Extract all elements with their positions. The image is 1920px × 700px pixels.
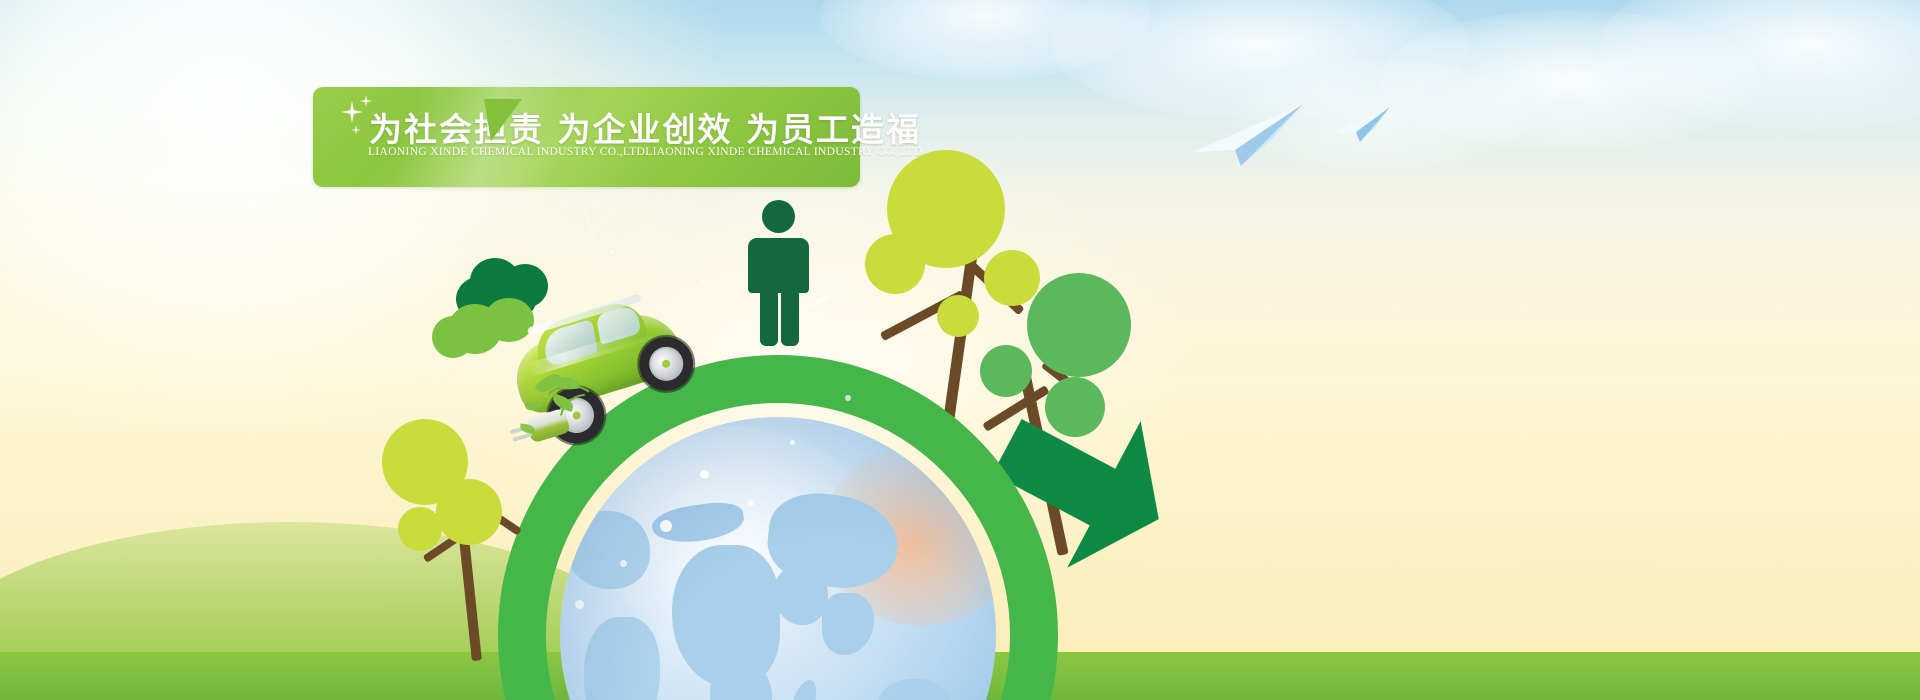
person-body (748, 238, 809, 293)
banner-subtitle: LIAONING XINDE CHEMICAL INDUSTRY CO.,LTD… (368, 146, 868, 158)
paper-plane-icon (1185, 100, 1305, 172)
person-leg-right (781, 286, 799, 346)
sparkle-dot (660, 520, 672, 532)
plug-pin (512, 432, 532, 441)
tree-foliage-blob (398, 507, 442, 551)
person-leg-left (760, 286, 778, 346)
bush-blob (432, 316, 474, 358)
sparkle-dot (748, 500, 754, 506)
sparkle-dot (700, 470, 709, 479)
banner-title: 为社会担责 为企业创效 为员工造福 (369, 103, 921, 151)
tree-foliage-blob (436, 479, 502, 545)
tree-foliage-blob (865, 234, 925, 294)
sparkle-dot (845, 395, 851, 401)
wheel-hub (647, 345, 685, 383)
sparkle-dot (700, 280, 704, 284)
headline-banner: 为社会担责 为企业创效 为员工造福 LIAONING XINDE CHEMICA… (313, 87, 860, 187)
paper-plane-icon (1330, 105, 1392, 145)
sparkle-dot (610, 250, 614, 254)
sparkle-dot (790, 440, 795, 445)
person-head (762, 200, 795, 233)
banner-stage: 为社会担责 为企业创效 为员工造福 LIAONING XINDE CHEMICA… (0, 0, 1920, 700)
standing-person-figure (748, 200, 808, 345)
sparkle-dot (620, 560, 627, 567)
tree-foliage-blob (937, 295, 979, 337)
sparkle-dot (575, 600, 584, 609)
